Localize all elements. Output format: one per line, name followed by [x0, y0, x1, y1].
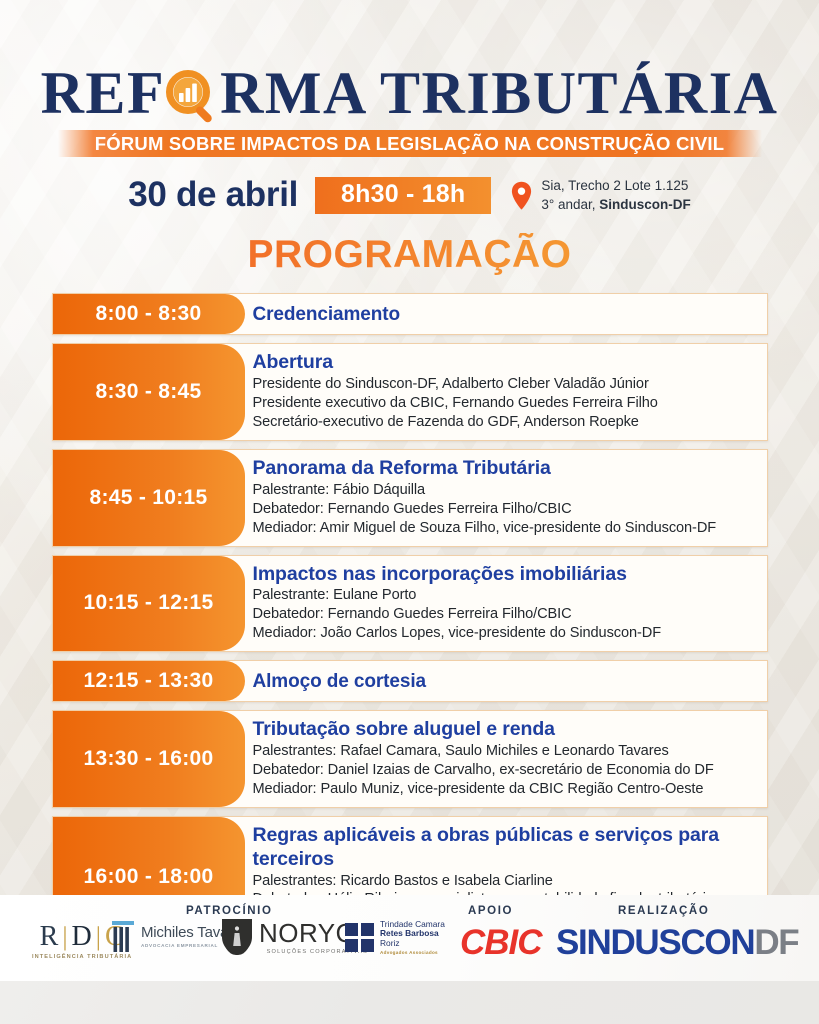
schedule-row-time: 10:15 - 12:15 [53, 556, 245, 652]
cbic-wordmark: CBIC [460, 925, 542, 960]
magnifier-chart-icon [165, 69, 219, 123]
map-pin-icon [511, 181, 532, 210]
trindade-line-3: Roriz [380, 939, 445, 948]
event-venue: Sia, Trecho 2 Lote 1.125 3° andar, Sindu… [511, 176, 690, 214]
schedule-row-detail: Mediador: Amir Miguel de Souza Filho, vi… [253, 519, 757, 538]
schedule-row-body: Almoço de cortesia [253, 661, 767, 701]
footer-logo-band: PATROCÍNIO APOIO REALIZAÇÃO R | D | C IN… [0, 895, 819, 981]
schedule-row-detail: Presidente do Sinduscon-DF, Adalberto Cl… [253, 375, 757, 394]
df-part: DF [754, 923, 798, 962]
schedule-row-detail: Debatedor: Fernando Guedes Ferreira Filh… [253, 500, 757, 519]
schedule-row-time: 8:45 - 10:15 [53, 450, 245, 546]
rdc-letter-d: D [72, 923, 93, 951]
trindade-tagline: Advogados Associados [380, 950, 445, 955]
grid-icon [345, 923, 374, 952]
sinduscondf-wordmark: SINDUSCONDF [556, 925, 798, 960]
schedule-row: 8:45 - 10:15 Panorama da Reforma Tributá… [52, 449, 768, 547]
schedule-row-time: 13:30 - 16:00 [53, 711, 245, 807]
schedule-list: 8:00 - 8:30 Credenciamento 8:30 - 8:45 A… [52, 293, 768, 937]
sinduscon-part: SINDUSCON [556, 923, 754, 962]
event-date: 30 de abril [128, 175, 298, 215]
sponsors-label: PATROCÍNIO [186, 905, 273, 917]
schedule-row-detail: Palestrantes: Ricardo Bastos e Isabela C… [253, 872, 757, 891]
schedule-row-body: Abertura Presidente do Sinduscon-DF, Ada… [253, 344, 767, 440]
schedule-row-time: 8:30 - 8:45 [53, 344, 245, 440]
event-title: REF RMA TRIBUTÁRIA [0, 66, 819, 121]
schedule-row-detail: Mediador: João Carlos Lopes, vice-presid… [253, 624, 757, 643]
support-label: APOIO [468, 905, 513, 917]
schedule-row-detail: Palestrante: Eulane Porto [253, 586, 757, 605]
title-part-one: REF [41, 66, 166, 121]
schedule-row-detail: Presidente executivo da CBIC, Fernando G… [253, 394, 757, 413]
event-time-range: 8h30 - 18h [315, 177, 491, 214]
event-subtitle: FÓRUM SOBRE IMPACTOS DA LEGISLAÇÃO NA CO… [95, 133, 725, 155]
shield-icon [222, 919, 252, 955]
schedule-row: 8:00 - 8:30 Credenciamento [52, 293, 768, 335]
schedule-row: 10:15 - 12:15 Impactos nas incorporações… [52, 555, 768, 653]
trindade-text: Trindade Camara Retes Barbosa Roriz Advo… [380, 920, 445, 955]
schedule-row-detail: Secretário-executivo de Fazenda do GDF, … [253, 413, 757, 432]
schedule-row-body: Impactos nas incorporações imobiliárias … [253, 556, 767, 652]
schedule-row-detail: Debatedor: Daniel Izaias de Carvalho, ex… [253, 761, 757, 780]
event-poster: REF RMA TRIBUTÁRIA FÓRUM SOBRE IMPACTOS … [0, 0, 819, 1024]
program-heading: PROGRAMAÇÃO [0, 233, 819, 277]
schedule-row: 8:30 - 8:45 Abertura Presidente do Sindu… [52, 343, 768, 441]
schedule-row-detail: Mediador: Paulo Muniz, vice-presidente d… [253, 780, 757, 799]
poster-header: REF RMA TRIBUTÁRIA FÓRUM SOBRE IMPACTOS … [0, 0, 819, 157]
schedule-row-title: Tributação sobre aluguel e renda [253, 718, 757, 742]
schedule-row-title: Credenciamento [253, 303, 757, 326]
title-part-two: RMA TRIBUTÁRIA [220, 66, 778, 121]
schedule-row-detail: Palestrante: Fábio Dáquilla [253, 481, 757, 500]
schedule-row-title: Panorama da Reforma Tributária [253, 457, 757, 481]
schedule-row: 12:15 - 13:30 Almoço de cortesia [52, 660, 768, 702]
pillars-icon [112, 921, 134, 952]
rdc-divider: | [96, 924, 102, 950]
rdc-tagline: INTELIGÊNCIA TRIBUTÁRIA [32, 954, 132, 960]
event-info-strip: 30 de abril 8h30 - 18h Sia, Trecho 2 Lot… [0, 175, 819, 215]
schedule-row-body: Panorama da Reforma Tributária Palestran… [253, 450, 767, 546]
schedule-row-body: Tributação sobre aluguel e renda Palestr… [253, 711, 767, 807]
rdc-letter-r: R [40, 923, 60, 951]
bottom-strip [0, 981, 819, 1024]
schedule-row-title: Impactos nas incorporações imobiliárias [253, 563, 757, 587]
event-subtitle-bar: FÓRUM SOBRE IMPACTOS DA LEGISLAÇÃO NA CO… [58, 130, 762, 157]
organizer-logo-sinduscondf: SINDUSCONDF [556, 925, 798, 960]
schedule-row: 13:30 - 16:00 Tributação sobre aluguel e… [52, 710, 768, 808]
schedule-row-body: Credenciamento [253, 294, 767, 334]
venue-org: Sinduscon-DF [599, 197, 691, 212]
support-logo-cbic: CBIC [460, 925, 542, 960]
rdc-divider: | [62, 924, 68, 950]
venue-address: Sia, Trecho 2 Lote 1.125 3° andar, Sindu… [541, 176, 690, 214]
schedule-row-detail: Palestrantes: Rafael Camara, Saulo Michi… [253, 742, 757, 761]
organizer-label: REALIZAÇÃO [618, 905, 709, 917]
schedule-row-time: 8:00 - 8:30 [53, 294, 245, 334]
schedule-row-detail: Debatedor: Fernando Guedes Ferreira Filh… [253, 605, 757, 624]
venue-address-line-1: Sia, Trecho 2 Lote 1.125 [541, 176, 690, 195]
schedule-row-title: Abertura [253, 351, 757, 375]
venue-address-line-2: 3° andar, Sinduscon-DF [541, 195, 690, 214]
sponsor-logo-trindade-camara: Trindade Camara Retes Barbosa Roriz Advo… [345, 920, 445, 955]
schedule-row-time: 12:15 - 13:30 [53, 661, 245, 701]
schedule-row-title: Almoço de cortesia [253, 670, 757, 693]
schedule-row-title: Regras aplicáveis a obras públicas e ser… [253, 824, 757, 872]
